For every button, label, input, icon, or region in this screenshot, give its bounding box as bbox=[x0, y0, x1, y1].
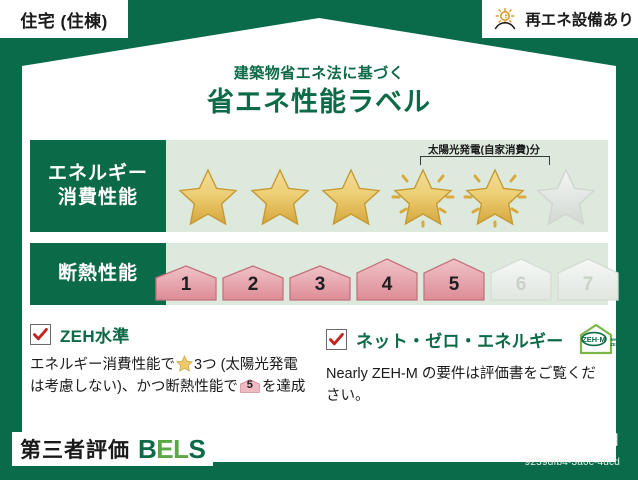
solar-annotation-label: 太陽光発電(自家消費)分 bbox=[414, 142, 554, 157]
insulation-performance-row: 断熱性能 1 2 3 4 bbox=[30, 243, 608, 305]
insulation-level-1: 1 bbox=[154, 264, 218, 302]
star-2 bbox=[246, 164, 314, 228]
insulation-level-1-number: 1 bbox=[154, 274, 218, 296]
check-icon bbox=[328, 331, 345, 348]
insulation-label: 断熱性能 bbox=[58, 262, 138, 286]
star-1 bbox=[174, 164, 242, 228]
insulation-level-2-number: 2 bbox=[221, 274, 285, 296]
bels-logo: BELS bbox=[138, 434, 205, 465]
svg-text:ZEH·M: ZEH·M bbox=[582, 335, 605, 344]
insulation-level-4-number: 4 bbox=[355, 274, 419, 296]
zeh-desc-star-count: 3つ (太陽光発電 bbox=[194, 357, 298, 373]
star-rating bbox=[166, 164, 608, 228]
check-icon bbox=[32, 326, 49, 343]
insulation-label-box: 断熱性能 bbox=[30, 243, 166, 305]
inline-house-number: 5 bbox=[240, 380, 260, 391]
net-zero-energy-description: Nearly ZEH-M の要件は評価書をご覧ください。 bbox=[326, 363, 606, 408]
zeh-standard-description: エネルギー消費性能で3つ (太陽光発電は考慮しない)、かつ断熱性能で5を達成 bbox=[30, 354, 310, 399]
zeh-standard-checkbox[interactable] bbox=[30, 324, 51, 345]
sun-renewable-icon bbox=[492, 7, 518, 31]
zeh-standard-header: ZEH水準 bbox=[30, 322, 310, 347]
star-6-empty bbox=[532, 164, 600, 228]
net-zero-energy-header: ネット・ゼロ・エネルギー ZEH·M Nearly ZEH-M bbox=[326, 322, 606, 356]
building-type-label: 住宅 (住棟) bbox=[20, 7, 108, 32]
net-zero-energy-checkbox[interactable] bbox=[326, 329, 347, 350]
bels-letters-el: EL bbox=[156, 434, 188, 464]
insulation-level-5: 5 bbox=[422, 257, 486, 302]
insulation-level-7-number: 7 bbox=[556, 274, 620, 296]
insulation-level-6-number: 6 bbox=[489, 274, 553, 296]
insulation-level-2: 2 bbox=[221, 264, 285, 302]
inline-house-badge: 5 bbox=[240, 377, 260, 395]
insulation-level-7: 7 bbox=[556, 257, 620, 302]
energy-performance-label: 住宅 (住棟) 再エネ設備あり 建築物省エネ法に基づく 省エネ性能ラベル エネル… bbox=[0, 0, 638, 480]
renewable-equipment-tag: 再エネ設備あり bbox=[482, 0, 638, 38]
zeh-desc-part-c: を達成 bbox=[262, 379, 306, 395]
energy-label-line1: エネルギー bbox=[48, 162, 148, 186]
insulation-level-4: 4 bbox=[355, 257, 419, 302]
zeh-desc-part-b: は考慮しない)、かつ断熱性能で bbox=[30, 379, 238, 395]
net-zero-energy-block: ネット・ゼロ・エネルギー ZEH·M Nearly ZEH-M Nearly Z… bbox=[326, 322, 606, 408]
third-party-eval-label: 第三者評価 bbox=[20, 434, 130, 464]
svg-text:ZEH-M: ZEH-M bbox=[610, 342, 624, 347]
bels-letter-s: S bbox=[189, 434, 206, 464]
property-name: D-GLANZ WEST bbox=[210, 444, 316, 459]
zeh-standard-title: ZEH水準 bbox=[60, 322, 130, 347]
insulation-level-6: 6 bbox=[489, 257, 553, 302]
star-5-solar bbox=[461, 164, 529, 228]
zeh-m-logo: ZEH·M Nearly ZEH-M bbox=[577, 322, 625, 356]
label-title: 省エネ性能ラベル bbox=[0, 80, 638, 119]
zeh-standard-block: ZEH水準 エネルギー消費性能で3つ (太陽光発電は考慮しない)、かつ断熱性能で… bbox=[30, 322, 310, 399]
inline-star-icon bbox=[176, 355, 193, 372]
star-4-solar bbox=[389, 164, 457, 228]
zeh-desc-part-a: エネルギー消費性能で bbox=[30, 357, 175, 373]
energy-label-line2: 消費性能 bbox=[58, 186, 138, 210]
evaluation-date: 評価日 2024年10月18日 bbox=[461, 429, 620, 450]
energy-performance-row: エネルギー 消費性能 太陽光発電(自家消費)分 bbox=[30, 140, 608, 232]
bels-badge: 第三者評価 BELS bbox=[12, 432, 213, 466]
net-zero-energy-title: ネット・ゼロ・エネルギー bbox=[356, 327, 564, 352]
bels-letter-b: B bbox=[138, 434, 156, 464]
evaluation-id: 9239dfb4-3a0c-4dcd bbox=[525, 457, 620, 468]
insulation-level-5-number: 5 bbox=[422, 274, 486, 296]
renewable-equipment-label: 再エネ設備あり bbox=[525, 8, 634, 30]
energy-rating-area: 太陽光発電(自家消費)分 bbox=[166, 140, 608, 232]
insulation-level-3-number: 3 bbox=[288, 274, 352, 296]
insulation-level-scale: 1 2 3 4 5 bbox=[166, 257, 608, 302]
star-3 bbox=[317, 164, 385, 228]
insulation-rating-area: 1 2 3 4 5 bbox=[166, 243, 608, 305]
insulation-level-3: 3 bbox=[288, 264, 352, 302]
energy-performance-label-box: エネルギー 消費性能 bbox=[30, 140, 166, 232]
building-type-tag: 住宅 (住棟) bbox=[0, 0, 128, 38]
